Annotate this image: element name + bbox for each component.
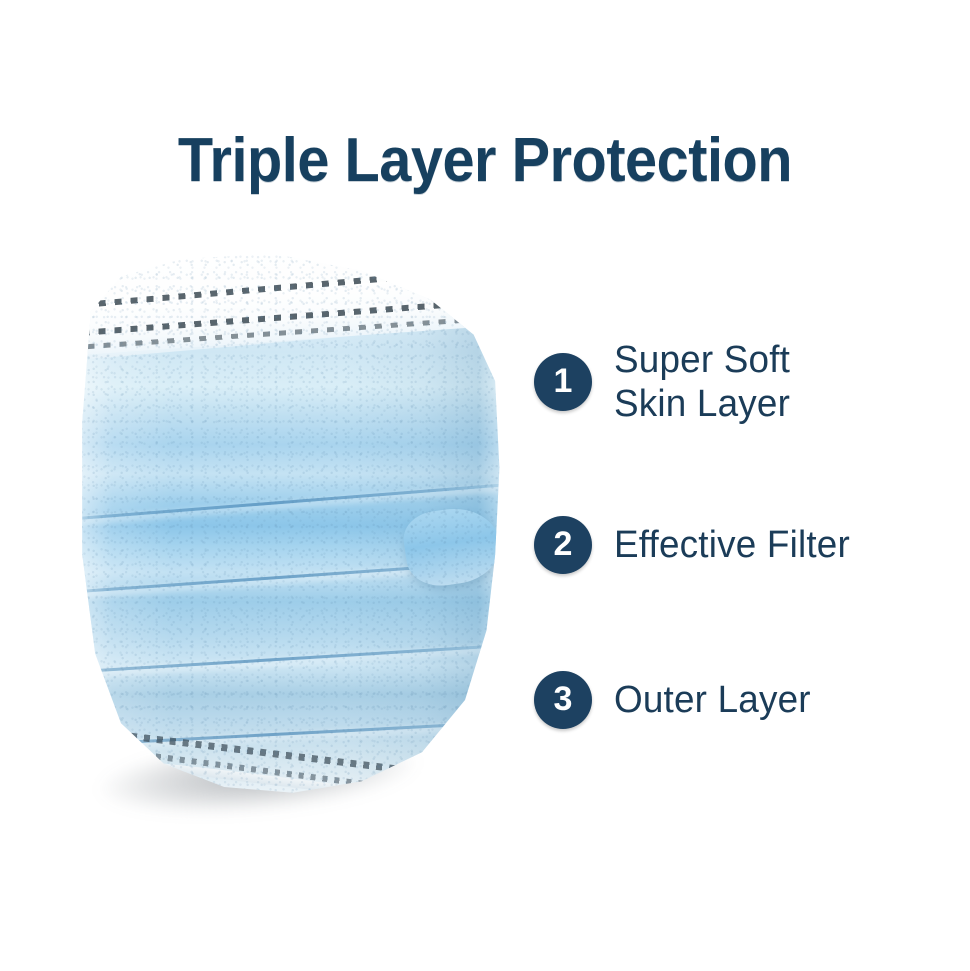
feature-item-2: 2 Effective Filter: [534, 516, 857, 574]
feature-label-3: Outer Layer: [614, 678, 811, 722]
feature-badge-1: 1: [534, 353, 592, 411]
feature-label-1: Super Soft Skin Layer: [614, 338, 790, 426]
feature-list: 1 Super Soft Skin Layer 2 Effective Filt…: [0, 0, 970, 971]
infographic-canvas: Triple Layer Protection: [0, 0, 970, 971]
feature-item-3: 3 Outer Layer: [534, 671, 817, 729]
feature-badge-2: 2: [534, 516, 592, 574]
feature-item-1: 1 Super Soft Skin Layer: [534, 338, 796, 426]
feature-label-2: Effective Filter: [614, 523, 850, 567]
feature-badge-3: 3: [534, 671, 592, 729]
